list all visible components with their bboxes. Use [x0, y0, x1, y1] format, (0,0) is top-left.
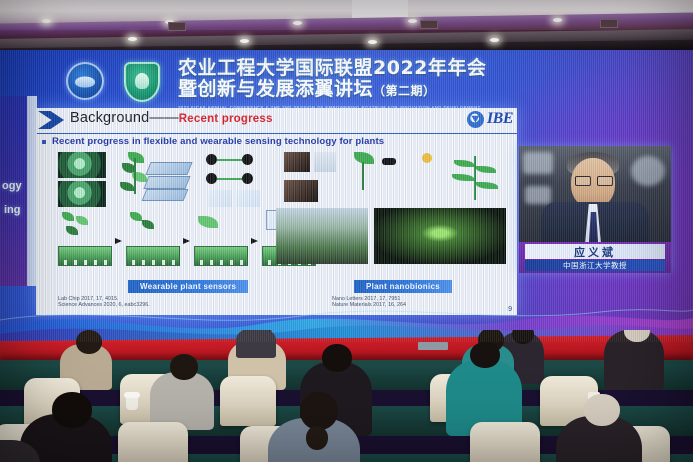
figure-sensor-chip: [145, 162, 192, 175]
slide-bullet-row: Recent progress in flexible and wearable…: [42, 136, 384, 147]
audience-head: [470, 342, 500, 368]
slide-title-dash: ——: [149, 110, 178, 126]
figure-substrate-tooth: [200, 260, 203, 265]
figure-plant-stem: [362, 162, 364, 190]
figure-leaf: [62, 212, 74, 221]
figure-glowing-plant-photo: [374, 208, 506, 264]
ceiling-downlight: [553, 18, 562, 22]
figure-device-photo: [284, 180, 318, 202]
figure-substrate: [58, 246, 112, 266]
glasses-lens-right: [597, 176, 613, 186]
figure-network-link: [217, 159, 242, 161]
figure-leaf: [130, 212, 142, 221]
conference-title-text: 农业工程大学国际联盟2022年年会 暨创新与发展添翼讲坛（第二期） 2022 I…: [178, 58, 523, 111]
speaker-affiliation-bar: 中国浙江大学教授: [525, 260, 665, 271]
figure-corn-stem: [474, 156, 476, 200]
audience-head: [52, 392, 92, 428]
emblem-right-wrap: [124, 62, 160, 102]
figure-network-node: [206, 154, 217, 165]
figure-network-node: [242, 173, 253, 184]
ceiling-spotlight-fixture: [600, 19, 618, 28]
figure-leaf: [120, 182, 134, 191]
ceiling-downlight: [293, 21, 302, 25]
audience-head: [170, 354, 198, 380]
figure-network-node: [206, 173, 217, 184]
figure-corn-leaf: [454, 160, 474, 167]
figure-leaf: [142, 220, 154, 229]
figure-leaf: [198, 216, 218, 228]
figure-vial-photo: [314, 152, 336, 172]
figure-substrate-tooth: [172, 260, 175, 265]
speaker-video-feed: [519, 146, 671, 242]
slide-title-accent: Recent progress: [179, 113, 273, 125]
figure-network-node: [242, 154, 253, 165]
side-screen-text-2: ing: [4, 204, 21, 216]
university-circular-emblem-icon: [66, 62, 104, 100]
ceiling-downlight: [408, 19, 417, 23]
figure-substrate-tooth: [74, 260, 77, 265]
figure-sun-icon: [422, 153, 432, 163]
figure-substrate-tooth: [220, 260, 223, 265]
speaker-video-panel: 应义斌 中国浙江大学教授: [519, 146, 671, 273]
figure-leaf: [66, 226, 78, 235]
video-background-blur: [525, 186, 551, 204]
audience-area: [0, 330, 693, 462]
conference-title-line2: 暨创新与发展添翼讲坛（第二期）: [178, 79, 523, 102]
figure-substrate-tooth: [240, 260, 243, 265]
slide-figure-area: [36, 150, 517, 278]
slide-bullet-text: Recent progress in flexible and wearable…: [52, 136, 384, 147]
audience-head: [300, 392, 338, 430]
figure-substrate-tooth: [94, 260, 97, 265]
audience-member: [236, 330, 276, 358]
presentation-slide: Background——Recent progress IBE Recent p…: [36, 108, 517, 315]
audience-head: [322, 344, 352, 372]
ibe-logo-text: IBE: [487, 110, 513, 128]
figure-substrate-tooth: [152, 260, 155, 265]
speaker-affiliation: 中国浙江大学教授: [563, 260, 627, 271]
side-screen-text-1: ogy: [2, 180, 22, 192]
tea-cup: [126, 396, 138, 410]
figure-sensor-chip: [142, 189, 189, 201]
university-shield-emblem-icon: [124, 62, 160, 102]
audience-head: [76, 330, 102, 354]
audience-chair: [118, 422, 188, 462]
audience-hair-bun: [306, 426, 328, 450]
ceiling-spotlight-fixture: [420, 20, 438, 29]
double-chevron-icon: [38, 111, 64, 129]
figure-sensor-chip: [143, 176, 190, 189]
secondary-side-screen: ogy ing: [0, 96, 30, 286]
audience-head: [584, 394, 620, 426]
conference-title-line1: 农业工程大学国际联盟2022年年会: [178, 58, 523, 79]
figure-substrate-tooth: [104, 260, 107, 265]
ceiling-downlight: [490, 38, 499, 42]
figure-substrate-tooth: [84, 260, 87, 265]
speaker-name: 应义斌: [574, 244, 616, 260]
slide-title: Background——Recent progress: [70, 110, 273, 126]
figure-process-arrow-icon: [251, 238, 258, 244]
video-background-blur: [631, 156, 665, 186]
audience-chair: [470, 422, 540, 462]
figure-corn-leaf: [476, 166, 496, 173]
figure-corn-leaf: [476, 182, 498, 189]
figure-plot-panel: [208, 190, 232, 207]
conference-title-line2-paren: （第二期）: [373, 84, 436, 98]
side-screen-white-edge: [27, 96, 37, 286]
glasses-lens-left: [575, 176, 591, 186]
ceiling-downlight: [368, 40, 377, 44]
figure-substrate-tooth: [210, 260, 213, 265]
conference-title-banner: 农业工程大学国际联盟2022年年会 暨创新与发展添翼讲坛（第二期） 2022 I…: [0, 50, 693, 112]
ceiling-spotlight-fixture: [168, 22, 186, 31]
speaker-nameplate: 应义斌 中国浙江大学教授: [519, 242, 671, 273]
ibe-circular-mark-icon: [467, 111, 484, 128]
figure-label-wearable-sensors: Wearable plant sensors: [128, 280, 248, 293]
video-background-blur: [523, 152, 553, 174]
figure-substrate: [126, 246, 180, 266]
figure-substrate-tooth: [162, 260, 165, 265]
conference-title-line2-main: 暨创新与发展添翼讲坛: [178, 78, 373, 100]
audience-chair: [220, 376, 276, 426]
ceiling-downlight: [42, 19, 51, 23]
figure-process-arrow-icon: [183, 238, 190, 244]
figure-corn-leaf: [452, 174, 474, 181]
figure-microscopy-bottom: [58, 181, 106, 207]
figure-label-plant-nanobionics: Plant nanobionics: [354, 280, 452, 293]
figure-nanoparticle-node: [382, 158, 396, 165]
speaker-glasses-icon: [575, 176, 611, 184]
figure-substrate-tooth: [142, 260, 145, 265]
figure-substrate: [194, 246, 248, 266]
emblem-left-wrap: [66, 62, 104, 100]
ceiling-downlight: [128, 37, 137, 41]
slide-header: Background——Recent progress IBE: [36, 108, 517, 134]
ceiling-downlight: [240, 39, 249, 43]
slide-title-main: Background: [70, 110, 149, 126]
tea-cup-lid: [124, 392, 140, 398]
figure-process-arrow-icon: [115, 238, 122, 244]
figure-substrate-tooth: [64, 260, 67, 265]
speaker-name-bar: 应义斌: [525, 244, 665, 259]
figure-substrate-tooth: [132, 260, 135, 265]
figure-greenhouse-photo: [276, 208, 368, 264]
figure-plot-panel: [236, 190, 260, 207]
figure-microscopy-top: [58, 152, 106, 178]
conference-hall-scene: 农业工程大学国际联盟2022年年会 暨创新与发展添翼讲坛（第二期） 2022 I…: [0, 0, 693, 462]
figure-network-link: [217, 178, 242, 180]
figure-plant-stem: [134, 158, 136, 194]
figure-substrate-tooth: [230, 260, 233, 265]
figure-device-photo: [284, 152, 310, 172]
figure-leaf: [354, 152, 374, 164]
figure-substrate-tooth: [268, 260, 271, 265]
ibe-logo: IBE: [467, 110, 513, 128]
figure-leaf: [76, 216, 88, 225]
bullet-square-icon: [42, 140, 46, 144]
figure-leaf: [128, 152, 144, 163]
